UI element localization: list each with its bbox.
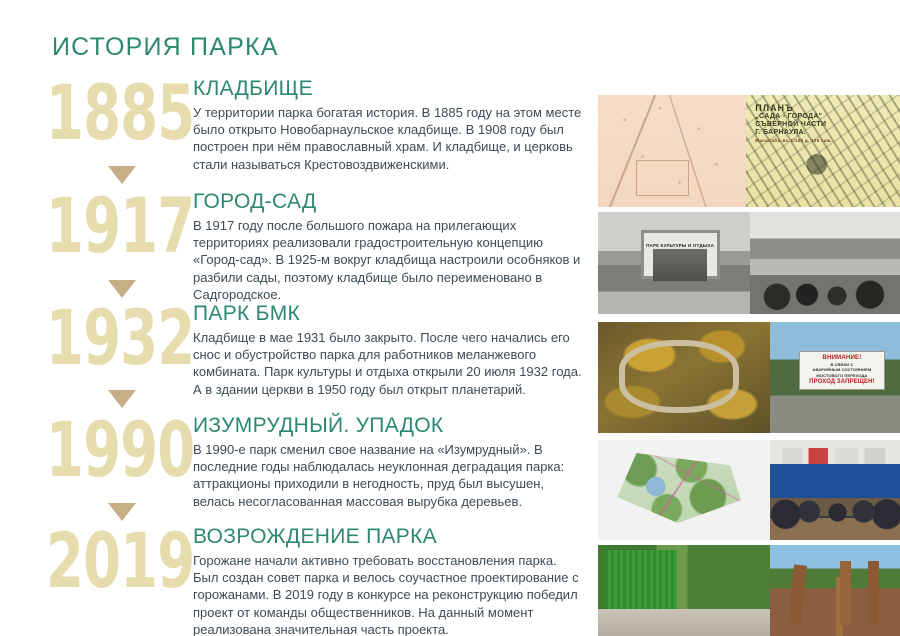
entry-year: 1990 [46, 415, 176, 485]
entry-text: Кладбище в мае 1931 было закрыто. После … [193, 329, 583, 398]
entry-text: В 1917 году после большого пожара на при… [193, 217, 583, 303]
entry-year: 1932 [46, 303, 176, 373]
timeline: 1885 КЛАДБИЩЕ У территории парка богатая… [0, 78, 595, 636]
park-masterplan-render [598, 440, 770, 540]
aerial-drained-pond-photo [598, 322, 770, 433]
warning-bottom: ПРОХОД ЗАПРЕЩЕН! [802, 379, 883, 386]
entry-heading: ГОРОД-САД [193, 191, 583, 213]
entry-body: ИЗУМРУДНЫЙ. УПАДОК В 1990-е парк сменил … [193, 415, 583, 510]
park-entrance-gate-photo: ПАРК КУЛЬТУРЫ И ОТДЫХА [598, 212, 750, 314]
warning-line2: АВАРИЙНЫМ СОСТОЯНИЕМ [802, 368, 883, 372]
garden-city-plan-map: ПЛАНЪ „САДА - ГОРОДА" СЪВЕРНОЙ ЧАСТИ Г. … [746, 95, 900, 207]
pond-embankment-photo [750, 212, 900, 314]
gallery-row: ПЛАНЪ „САДА - ГОРОДА" СЪВЕРНОЙ ЧАСТИ Г. … [598, 95, 900, 207]
gallery-row [598, 440, 900, 540]
entry-year: 1885 [46, 78, 176, 148]
map-caption-scale: Масштабъ въ 1/100 д. 100 саж. [755, 138, 835, 143]
gallery-row [598, 545, 900, 636]
gallery-row: ПАРК КУЛЬТУРЫ И ОТДЫХА [598, 212, 900, 314]
historic-cemetery-map [598, 95, 746, 207]
council-meeting-photo [770, 440, 900, 540]
entry-heading: КЛАДБИЩЕ [193, 78, 583, 100]
entry-text: В 1990-е парк сменил свое название на «И… [193, 441, 583, 510]
gallery-row: ВНИМАНИЕ! В СВЯЗИ С АВАРИЙНЫМ СОСТОЯНИЕМ… [598, 322, 900, 433]
map-caption: ПЛАНЪ „САДА - ГОРОДА" СЪВЕРНОЙ ЧАСТИ Г. … [755, 103, 835, 144]
map-caption-title: ПЛАНЪ [755, 103, 835, 113]
entry-text: У территории парка богатая история. В 18… [193, 104, 583, 173]
entry-heading: ПАРК БМК [193, 303, 583, 325]
park-history-infographic: ИСТОРИЯ ПАРКА 1885 КЛАДБИЩЕ У территории… [0, 0, 900, 636]
entry-heading: ИЗУМРУДНЫЙ. УПАДОК [193, 415, 583, 437]
entry-body: ГОРОД-САД В 1917 году после большого пож… [193, 191, 583, 303]
warning-sign-photo: ВНИМАНИЕ! В СВЯЗИ С АВАРИЙНЫМ СОСТОЯНИЕМ… [770, 322, 900, 433]
gate-sign-caption: ПАРК КУЛЬТУРЫ И ОТДЫХА [641, 243, 720, 248]
warning-title: ВНИМАНИЕ! [802, 355, 883, 362]
page-title: ИСТОРИЯ ПАРКА [52, 33, 279, 62]
map-caption-line2: СЪВЕРНОЙ ЧАСТИ [755, 121, 826, 128]
warning-line1: В СВЯЗИ С [802, 363, 883, 367]
green-pavilion-photo [598, 545, 770, 636]
entry-text: Горожане начали активно требовать восста… [193, 552, 583, 636]
entry-body: ВОЗРОЖДЕНИЕ ПАРКА Горожане начали активн… [193, 526, 583, 636]
entry-year: 2019 [46, 526, 176, 596]
wooden-playground-photo [770, 545, 900, 636]
entry-body: ПАРК БМК Кладбище в мае 1931 было закрыт… [193, 303, 583, 398]
map-caption-line3: Г. БАРНАУЛА. [755, 129, 806, 136]
warning-line3: МОСТОВОГО ПЕРЕХОДА [802, 374, 883, 378]
entry-body: КЛАДБИЩЕ У территории парка богатая исто… [193, 78, 583, 173]
map-caption-line1: „САДА - ГОРОДА" [755, 113, 822, 120]
entry-heading: ВОЗРОЖДЕНИЕ ПАРКА [193, 526, 583, 548]
photo-gallery: ПЛАНЪ „САДА - ГОРОДА" СЪВЕРНОЙ ЧАСТИ Г. … [598, 0, 900, 636]
entry-year: 1917 [46, 191, 176, 261]
warning-sign-caption: ВНИМАНИЕ! В СВЯЗИ С АВАРИЙНЫМ СОСТОЯНИЕМ… [799, 351, 886, 390]
